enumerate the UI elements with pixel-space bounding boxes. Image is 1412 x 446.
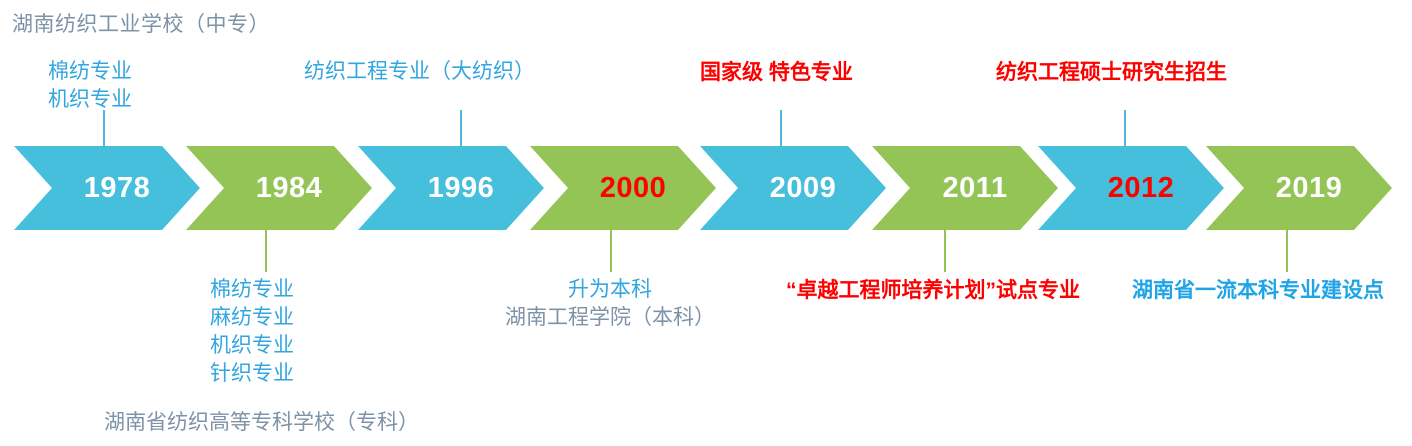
connector-2000 xyxy=(610,230,612,272)
callout-1978: 棉纺专业 机织专业 xyxy=(48,58,132,114)
callout-2012: 纺织工程硕士研究生招生 xyxy=(996,59,1227,87)
page-title: 湖南纺织工业学校（中专） xyxy=(12,8,270,38)
year-label-2012: 2012 xyxy=(1108,172,1175,205)
year-label-1978: 1978 xyxy=(84,172,151,205)
connector-1984 xyxy=(265,230,267,272)
callout-2000-line-2: 湖南工程学院（本科） xyxy=(470,304,750,332)
year-label-2009: 2009 xyxy=(770,172,837,205)
bottom-caption: 湖南省纺织高等专科学校（专科） xyxy=(104,406,419,436)
connector-2012 xyxy=(1124,110,1126,150)
callout-1984-line-1: 棉纺专业 xyxy=(210,276,294,304)
year-label-1996: 1996 xyxy=(428,172,495,205)
milestone-chevron-2009[interactable]: 2009 xyxy=(700,146,886,230)
callout-2011-line-1: “卓越工程师培养计划”试点专业 xyxy=(786,277,1080,305)
milestone-chevron-2011[interactable]: 2011 xyxy=(872,146,1058,230)
connector-1978 xyxy=(103,110,105,150)
callout-2000: 升为本科 湖南工程学院（本科） xyxy=(470,276,750,332)
connector-2011 xyxy=(944,230,946,272)
milestone-chevron-1984[interactable]: 1984 xyxy=(186,146,372,230)
connector-2019 xyxy=(1286,230,1288,272)
callout-2019: 湖南省一流本科专业建设点 xyxy=(1132,277,1384,305)
callout-1996: 纺织工程专业（大纺织） xyxy=(304,58,535,86)
callout-1984-line-3: 机织专业 xyxy=(210,332,294,360)
callout-1978-line-2: 机织专业 xyxy=(48,86,132,114)
year-label-2000: 2000 xyxy=(600,172,667,205)
connector-1996 xyxy=(460,110,462,150)
year-label-2019: 2019 xyxy=(1276,172,1343,205)
callout-2012-line-1: 纺织工程硕士研究生招生 xyxy=(996,59,1227,87)
milestone-chevron-2019[interactable]: 2019 xyxy=(1206,146,1392,230)
year-label-1984: 1984 xyxy=(256,172,323,205)
milestone-chevron-2000[interactable]: 2000 xyxy=(530,146,716,230)
callout-1984-line-2: 麻纺专业 xyxy=(210,304,294,332)
callout-1984: 棉纺专业 麻纺专业 机织专业 针织专业 xyxy=(210,276,294,388)
callout-1984-line-4: 针织专业 xyxy=(210,360,294,388)
year-label-2011: 2011 xyxy=(943,172,1008,205)
milestone-chevron-2012[interactable]: 2012 xyxy=(1038,146,1224,230)
callout-2019-line-1: 湖南省一流本科专业建设点 xyxy=(1132,277,1384,305)
callout-1978-line-1: 棉纺专业 xyxy=(48,58,132,86)
callout-2011: “卓越工程师培养计划”试点专业 xyxy=(786,277,1080,305)
milestone-chevron-1996[interactable]: 1996 xyxy=(358,146,544,230)
callout-2009: 国家级 特色专业 xyxy=(700,59,853,87)
connector-2009 xyxy=(780,110,782,150)
milestone-chevron-1978[interactable]: 1978 xyxy=(14,146,200,230)
timeline-band: 1978 1984 1996 2000 2009 2011 2012 2019 xyxy=(0,146,1412,230)
callout-1996-line-1: 纺织工程专业（大纺织） xyxy=(304,58,535,86)
callout-2000-line-1: 升为本科 xyxy=(470,276,750,304)
callout-2009-line-1: 国家级 特色专业 xyxy=(700,59,853,87)
